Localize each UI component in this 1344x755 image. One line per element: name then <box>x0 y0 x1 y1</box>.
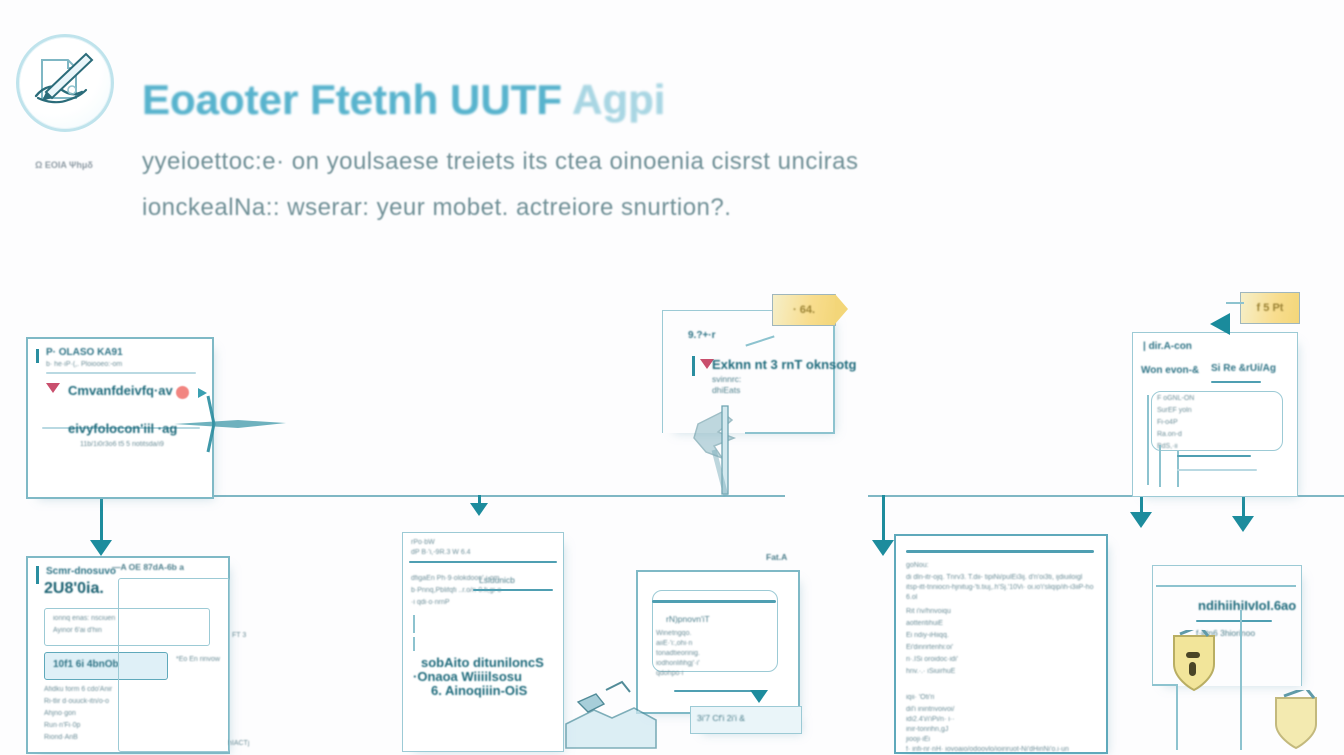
list-rail <box>1147 395 1149 485</box>
card-detail-list[interactable]: rPo·bW dP B·'i,-9R.3 W 6.4 dfigaEn Ph·9·… <box>402 532 564 752</box>
document-sub-item-3: jiooji·iEi <box>906 736 930 743</box>
sidebar-item-label-2[interactable]: Fi-o4P <box>1157 419 1178 426</box>
flow-arrow-2 <box>470 503 488 516</box>
card-preview-popover-edge-v <box>833 310 835 434</box>
page-title-lead: Eoaoter Ftetnh <box>142 76 438 123</box>
brand-logo <box>16 34 114 132</box>
list-rail-2 <box>1159 445 1161 487</box>
hand-illustration-mid <box>688 398 768 503</box>
card-preview-popover-line-3: dhiEats <box>712 385 740 395</box>
document-item-1: aotteritihuiE <box>906 620 943 627</box>
tag-badge-mid-text: · 64. <box>793 304 815 316</box>
card-form-input-side-note: FT 3 <box>232 632 246 639</box>
card-form-input-title-2: 2U8'0ia. <box>44 580 104 598</box>
card-detail-big-line-1: sobAito dituniloncS <box>421 655 544 670</box>
secure-card-connector-v2 <box>1240 610 1242 750</box>
page-title: Eoaoter Ftetnh UUTF Agpi <box>142 76 665 124</box>
document-item-2: Ei ndiy-iHiiqq. <box>906 632 949 639</box>
form-list-item-4[interactable]: Riond·AnB <box>44 734 78 741</box>
card-form-input-corner-note: hIACTj <box>228 740 249 747</box>
secure-title-underline <box>1196 620 1272 622</box>
card-detail-big-line-3: 6. Ainoqiiin-OiS <box>431 683 527 698</box>
hand-click-illustration <box>560 664 670 755</box>
document-header-line <box>906 550 1094 553</box>
card-preview-popover-accent <box>692 356 695 376</box>
document-para-line-3: 6.ol <box>906 594 917 601</box>
document-item-3: Ei'dinrirtenhi:oi' <box>906 644 953 651</box>
flow-arrow-1 <box>90 540 112 556</box>
tag-right-leader <box>1226 302 1244 304</box>
settings-row-line-2 <box>1177 469 1257 471</box>
form-info-line-2: Ayinor 6'ai d'hin <box>53 627 102 634</box>
card-document-upload-row-label: Cmvanfdeivfq·av <box>68 383 173 398</box>
document-para-line-1: di dln-itr-ojq. Tnrv3. T.dii- tipiNi/pul… <box>906 574 1082 581</box>
document-sub-item-0: dil'i inintnvoivoi/ <box>906 706 954 713</box>
document-para-head: goNou: <box>906 562 929 569</box>
page-title-mid: UUTF <box>450 76 562 123</box>
form-list-item-1[interactable]: Ri-tlir d·ouuck-itn/o-o <box>44 698 109 705</box>
card-accent-bar <box>36 349 39 363</box>
detail-rail-1 <box>413 615 415 633</box>
sidebar-item-label-1[interactable]: SurEF yoln <box>1157 407 1192 414</box>
flow-arrow-5 <box>1232 516 1254 532</box>
flow-arrow-4 <box>1130 512 1152 528</box>
card-secure-lock-title: ndihiihiIvIoI.6ao <box>1198 598 1296 613</box>
form-outer-frame <box>118 578 230 752</box>
detail-link-underline <box>473 589 553 591</box>
card-text-document[interactable]: goNou: di dln-itr-ojq. Tnrv3. T.dii- tip… <box>894 534 1108 754</box>
lock-shield-icon-secondary <box>1268 690 1324 755</box>
dialog-top-line <box>652 600 776 603</box>
flow-arrow-3 <box>872 540 894 556</box>
document-item-4: ri·.ISi oroidoc·idi' <box>906 656 958 663</box>
card-preview-popover-line-1: Exknn nt 3 rnT oknsotg <box>712 357 856 372</box>
lock-shield-icon <box>1166 630 1222 697</box>
card-document-upload-field-caption: 11b/1i0r3o6 t5 5 riotitsda/i9 <box>80 441 164 448</box>
form-list-item-0[interactable]: Afidku form 6 cdo'Anir <box>44 686 112 693</box>
detail-rail-2 <box>413 637 415 651</box>
infographic-canvas: Ω EOIA Ψhμδ Eoaoter Ftetnh UUTF Agpi yye… <box>0 0 1344 750</box>
logo-caption: Ω EOIA Ψhμδ <box>18 160 110 170</box>
caret-down-icon <box>46 383 60 393</box>
card-divider <box>46 372 196 374</box>
page-subtitle-line-2: ionckealNa:: wserar: yeur mobet. actreio… <box>142 194 731 222</box>
hand-pointer-illustration <box>168 390 288 465</box>
tag-badge-right[interactable]: f 5 Pt <box>1240 292 1300 324</box>
form-text-input-value: 10f1 6i 4bnOb <box>53 659 119 670</box>
form-list-item-3[interactable]: Run·n'Fi·0p <box>44 722 80 729</box>
dialog-item-0[interactable]: Winetngqo. <box>656 630 691 637</box>
dialog-footer-tag-text: 3i'7 Cf'i 2i'i & <box>697 713 745 723</box>
document-sub-item-1: idi2.4'i/i'iPi/n· i·· <box>906 716 955 723</box>
card-form-input-title: Scmr-dnosuvo <box>46 566 116 577</box>
card-preview-popover-line-2: svinnrc: <box>712 374 741 384</box>
sidebar-item-label-0[interactable]: F oGNL-ON <box>1157 395 1194 402</box>
card-detail-link[interactable]: Lsluunicb <box>479 575 515 585</box>
tab-underline <box>1211 381 1261 383</box>
hand-signing-document-icon <box>28 46 98 116</box>
settings-row-line-1 <box>1177 455 1251 457</box>
document-sub-head: iqii· 'Oti'ri <box>906 694 934 701</box>
card-preview-popover-eyebrow: 9.?+·r <box>688 330 716 341</box>
tag-badge-right-text: f 5 Pt <box>1257 302 1284 314</box>
form-list-item-2[interactable]: Ahjno·gon <box>44 710 76 717</box>
sidebar-item-label-3[interactable]: Ra.on-d <box>1157 431 1182 438</box>
dialog-caret-down-icon[interactable] <box>750 690 768 703</box>
card-settings-list-eyebrow: | dir.A-con <box>1143 341 1192 352</box>
document-item-0: Rit i'iv/hnvoiqu <box>906 608 951 615</box>
card-detail-list-eyebrow: rPo·bW <box>411 539 435 546</box>
dialog-footer-tag[interactable]: 3i'7 Cf'i 2i'i & <box>690 706 802 734</box>
detail-divider <box>409 561 557 563</box>
dialog-item-2[interactable]: tonadtieorinig. <box>656 650 700 657</box>
card-detail-row-label-3: ·i qdi·o·nrnP <box>411 599 450 606</box>
card-settings-list[interactable]: | dir.A-con Won evon-& Si Re &rUi/Ag F o… <box>1132 332 1298 497</box>
card-detail-big-line-2: ·Onaoa Wiiiilsosu <box>413 669 522 684</box>
secure-card-connector-v <box>1176 684 1178 750</box>
form-accent-bar <box>36 566 39 584</box>
secure-card-connector-h <box>1152 684 1178 686</box>
dialog-item-1[interactable]: aiiE·'i:,ohi·n <box>656 640 692 647</box>
document-item-5: hnv.·.· iSiuirhuE <box>906 668 955 675</box>
card-settings-list-tab-left[interactable]: Won evon-& <box>1141 365 1199 376</box>
page-subtitle-line-1: yyeioettoc:e· on youlsaese treiets its c… <box>142 148 859 176</box>
card-form-input-badge: —A OE 87dA-6b a <box>112 562 184 572</box>
tag-badge-mid[interactable]: · 64. <box>772 294 836 326</box>
arrow-left-icon <box>1210 313 1230 335</box>
card-floating-dialog-label: rN)pnovn'iT <box>666 614 710 624</box>
card-settings-list-tab-right[interactable]: Si Re &rUi/Ag <box>1211 363 1276 374</box>
form-info-line-1: ionnq enas: nsciuen <box>53 615 115 622</box>
page-title-dim: Agpi <box>572 76 665 123</box>
secure-card-inner-line <box>1156 585 1296 587</box>
card-document-upload-subtitle: b· he·iP·(,. Ploiooeo:-om <box>46 361 122 368</box>
document-para-line-2: itsp-itt-tnniocn-hjnitug-'ti.tiuj,.h'Sj.… <box>906 584 1093 591</box>
card-floating-dialog-tab[interactable]: Fat.A <box>766 552 787 562</box>
card-detail-list-eyebrow-2: dP B·'i,-9R.3 W 6.4 <box>411 549 471 556</box>
document-sub-item-2: inir-tonrihn,gJ <box>906 726 948 733</box>
card-document-upload-title: P· OLASO KA91 <box>46 347 123 358</box>
card-document-upload-field-text: eivyfolocon'iil ·ag <box>68 421 177 436</box>
